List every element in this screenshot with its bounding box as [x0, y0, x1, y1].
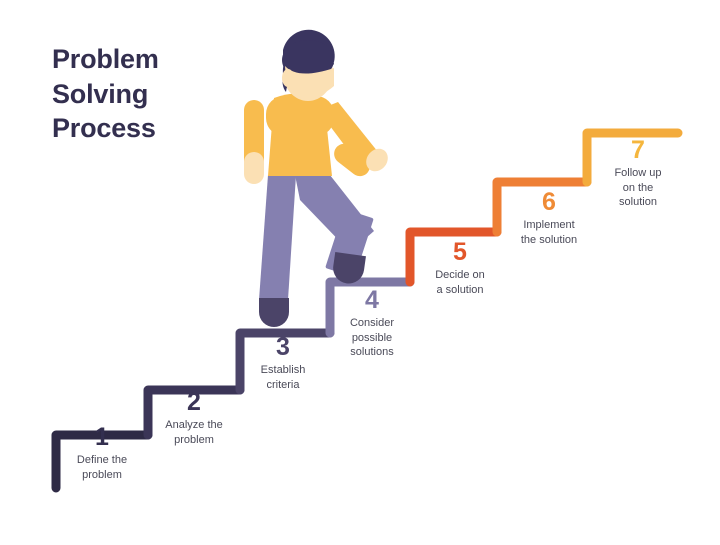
step-label-3: 3 Establish criteria — [232, 335, 334, 392]
step-number-4: 4 — [322, 288, 422, 313]
step-text-5: Decide on a solution — [408, 268, 512, 297]
figure-front-leg — [294, 170, 374, 286]
step-text-7: Follow up on the solution — [586, 166, 690, 210]
step-number-7: 7 — [586, 138, 690, 163]
step-number-2: 2 — [140, 390, 248, 415]
step-label-4: 4 Consider possible solutions — [322, 288, 422, 360]
step-label-5: 5 Decide on a solution — [408, 240, 512, 297]
step-text-2: Analyze the problem — [140, 418, 248, 447]
step-label-2: 2 Analyze the problem — [140, 390, 248, 447]
step-text-4: Consider possible solutions — [322, 316, 422, 360]
step-label-7: 7 Follow up on the solution — [586, 138, 690, 210]
step-text-3: Establish criteria — [232, 363, 334, 392]
figure-head — [282, 30, 335, 101]
step-text-1: Define the problem — [48, 453, 156, 482]
figure-back-arm — [244, 100, 264, 184]
figure-back-leg — [259, 175, 296, 327]
step-number-3: 3 — [232, 335, 334, 360]
figure-torso — [266, 93, 334, 176]
step-text-6: Implement the solution — [494, 218, 604, 247]
infographic-canvas: Problem Solving Process — [0, 0, 720, 545]
